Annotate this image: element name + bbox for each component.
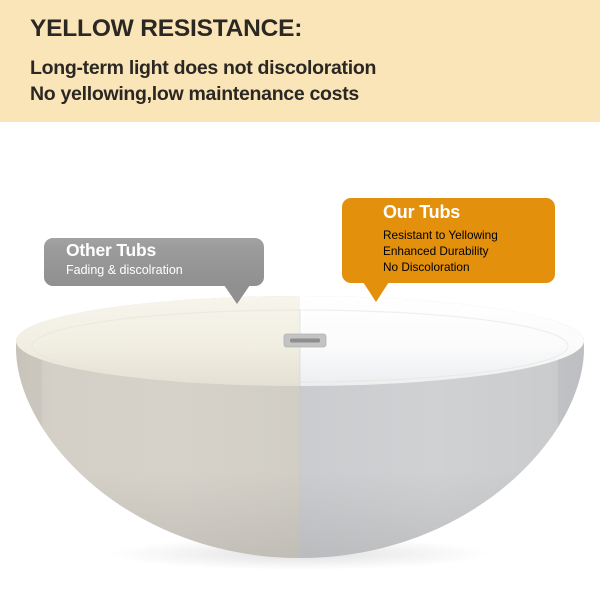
callout-our-tubs-pointer-icon	[363, 282, 389, 302]
promo-graphic: YELLOW RESISTANCE: Long-term light does …	[0, 0, 600, 600]
callout-other-tubs-line-1: Fading & discolration	[66, 263, 183, 277]
callout-other-tubs[interactable]: Other Tubs Fading & discolration	[44, 238, 264, 286]
callout-our-tubs-line-3: No Discoloration	[383, 260, 470, 274]
callout-our-tubs-title: Our Tubs	[383, 202, 460, 223]
bathtub-illustration	[0, 296, 600, 576]
header-banner: YELLOW RESISTANCE: Long-term light does …	[0, 0, 600, 122]
overflow-plate-slot	[290, 339, 320, 343]
header-subline-2: No yellowing,low maintenance costs	[30, 83, 359, 106]
callout-our-tubs[interactable]: Our Tubs Resistant to Yellowing Enhanced…	[342, 198, 555, 283]
callout-other-tubs-pointer-icon	[224, 285, 250, 304]
page-title: YELLOW RESISTANCE:	[30, 15, 302, 43]
callout-our-tubs-line-2: Enhanced Durability	[383, 244, 489, 258]
header-subline-1: Long-term light does not discoloration	[30, 57, 376, 80]
overflow-drain-cover	[284, 334, 326, 347]
callout-other-tubs-title: Other Tubs	[66, 240, 156, 261]
callout-our-tubs-line-1: Resistant to Yellowing	[383, 228, 498, 242]
